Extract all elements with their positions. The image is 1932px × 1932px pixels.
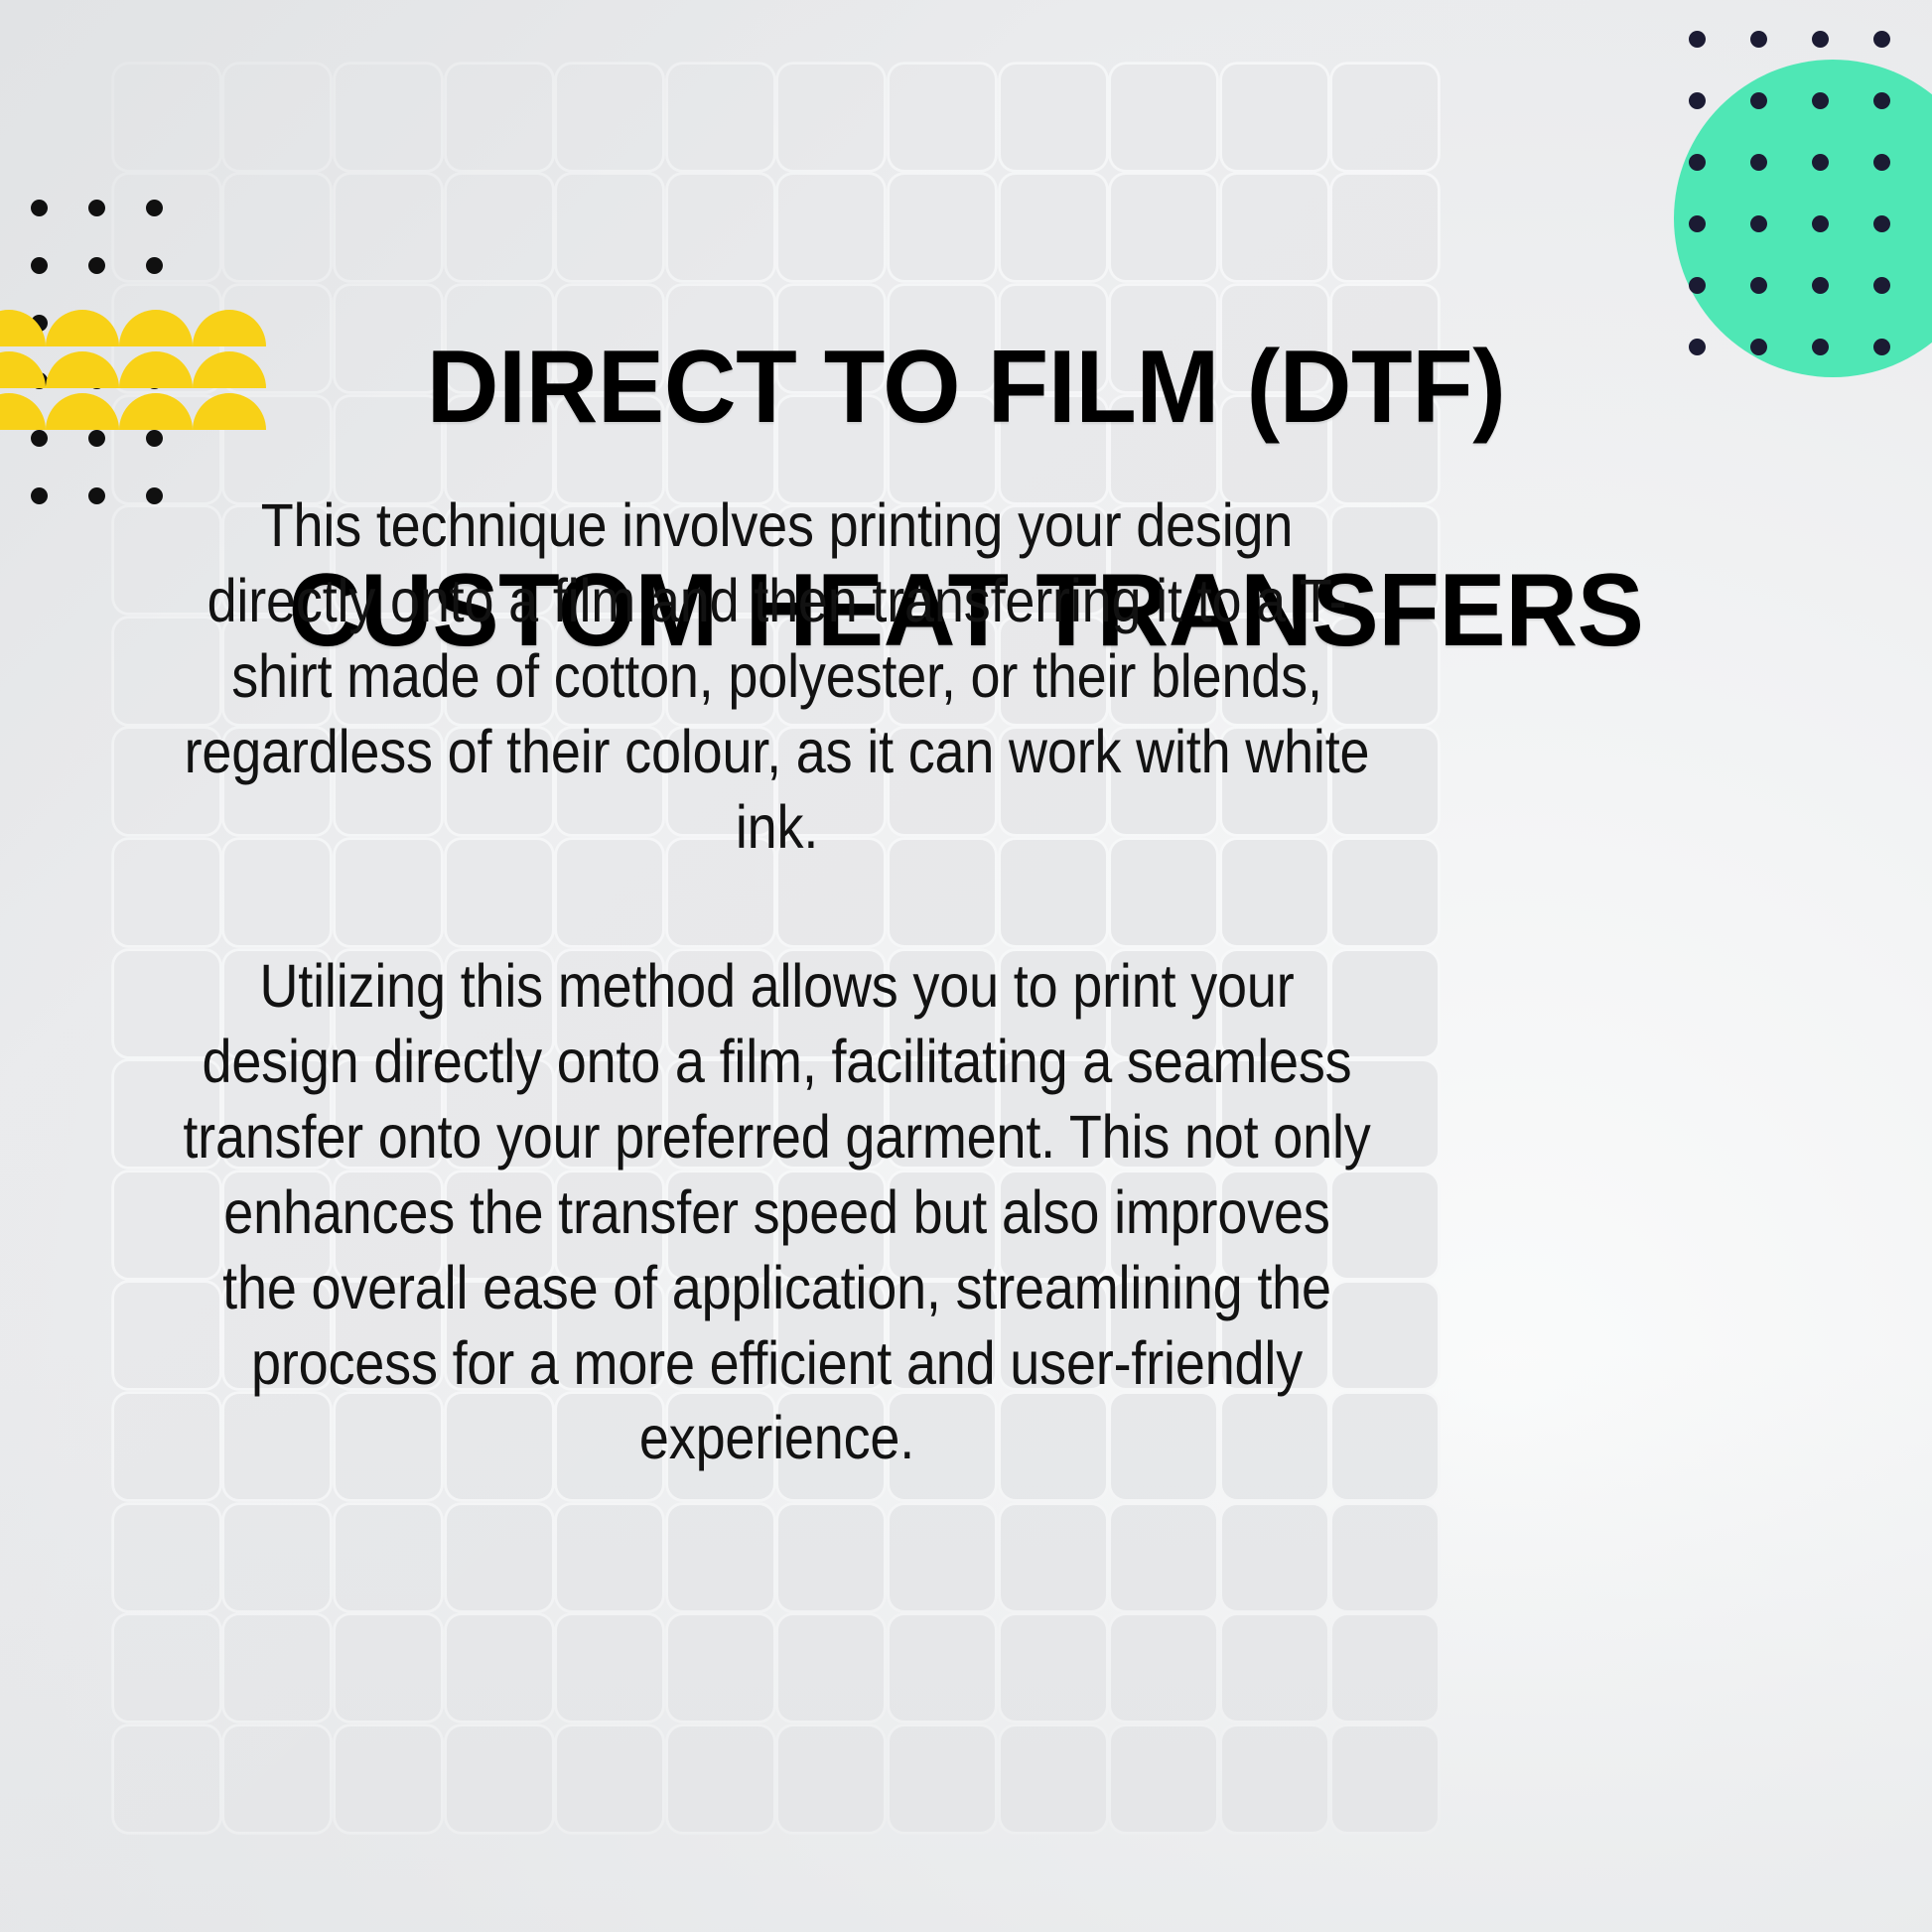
body-copy: This technique involves printing your de…	[182, 488, 1372, 1476]
grid-tile	[447, 65, 552, 170]
navy-dot	[1750, 92, 1767, 109]
yellow-dome	[0, 393, 46, 430]
grid-tile	[114, 65, 219, 170]
navy-dot	[1812, 31, 1829, 48]
navy-dot	[1750, 31, 1767, 48]
black-dot	[88, 200, 105, 216]
navy-dot	[1750, 215, 1767, 232]
grid-tile	[336, 1615, 441, 1721]
navy-dot	[1873, 215, 1890, 232]
grid-tile	[1001, 1505, 1106, 1610]
black-dot	[146, 430, 163, 447]
grid-tile	[1222, 1726, 1327, 1832]
grid-tile	[114, 1726, 219, 1832]
grid-tile	[1111, 1505, 1216, 1610]
grid-tile	[1332, 65, 1438, 170]
grid-tile	[224, 1726, 330, 1832]
black-dot	[88, 430, 105, 447]
grid-tile	[1332, 1726, 1438, 1832]
grid-tile	[336, 65, 441, 170]
body-paragraph-2: Utilizing this method allows you to prin…	[182, 949, 1372, 1477]
grid-tile	[1111, 1726, 1216, 1832]
yellow-dome	[46, 351, 119, 388]
grid-tile	[557, 1615, 662, 1721]
grid-tile	[668, 1615, 773, 1721]
grid-tile	[778, 1726, 884, 1832]
grid-tile	[1111, 1615, 1216, 1721]
grid-tile	[778, 1505, 884, 1610]
navy-dot	[1689, 92, 1706, 109]
slide-canvas: DIRECT TO FILM (DTF) CUSTOM HEAT TRANSFE…	[0, 0, 1932, 1932]
navy-dot	[1812, 92, 1829, 109]
grid-tile	[668, 65, 773, 170]
black-dot	[146, 200, 163, 216]
grid-tile	[114, 1615, 219, 1721]
grid-tile	[1332, 1615, 1438, 1721]
navy-dot	[1689, 31, 1706, 48]
body-paragraph-1: This technique involves printing your de…	[182, 488, 1372, 866]
grid-tile	[557, 65, 662, 170]
navy-dot	[1750, 277, 1767, 294]
grid-tile	[114, 1505, 219, 1610]
grid-tile	[890, 65, 995, 170]
yellow-dome	[119, 393, 193, 430]
grid-tile	[1001, 1615, 1106, 1721]
black-dot	[31, 257, 48, 274]
grid-tile	[557, 1726, 662, 1832]
yellow-dome	[46, 393, 119, 430]
grid-tile	[224, 65, 330, 170]
black-dot	[31, 200, 48, 216]
grid-tile	[1222, 65, 1327, 170]
grid-tile	[447, 1505, 552, 1610]
grid-tile	[447, 1726, 552, 1832]
grid-tile	[778, 65, 884, 170]
grid-tile	[1001, 1726, 1106, 1832]
black-dot	[31, 430, 48, 447]
grid-tile	[890, 1505, 995, 1610]
grid-tile	[1111, 65, 1216, 170]
yellow-dome	[0, 310, 46, 346]
grid-tile	[336, 1505, 441, 1610]
grid-tile	[778, 1615, 884, 1721]
navy-dot	[1812, 154, 1829, 171]
yellow-dome	[119, 351, 193, 388]
grid-tile	[1001, 65, 1106, 170]
navy-dot	[1750, 154, 1767, 171]
navy-dot	[1812, 339, 1829, 355]
yellow-dome	[0, 351, 46, 388]
grid-tile	[224, 1505, 330, 1610]
navy-dot	[1750, 339, 1767, 355]
yellow-dome	[46, 310, 119, 346]
navy-dot	[1873, 154, 1890, 171]
navy-dot	[1812, 277, 1829, 294]
navy-dot	[1812, 215, 1829, 232]
navy-dot	[1873, 92, 1890, 109]
navy-dot	[1689, 154, 1706, 171]
page-title-line-1: DIRECT TO FILM (DTF)	[183, 332, 1748, 443]
grid-tile	[224, 1615, 330, 1721]
black-dot	[88, 487, 105, 504]
grid-tile	[668, 1505, 773, 1610]
grid-tile	[557, 1505, 662, 1610]
grid-tile	[890, 1615, 995, 1721]
black-dot	[31, 487, 48, 504]
grid-tile	[1222, 1615, 1327, 1721]
grid-tile	[890, 1726, 995, 1832]
grid-tile	[1332, 1505, 1438, 1610]
navy-dot	[1873, 31, 1890, 48]
black-dot	[88, 257, 105, 274]
navy-dot	[1873, 277, 1890, 294]
yellow-dome	[119, 310, 193, 346]
navy-dot	[1873, 339, 1890, 355]
black-dot	[146, 487, 163, 504]
grid-tile	[668, 1726, 773, 1832]
grid-tile	[1222, 1505, 1327, 1610]
black-dot	[146, 257, 163, 274]
grid-tile	[336, 1726, 441, 1832]
grid-tile	[447, 1615, 552, 1721]
